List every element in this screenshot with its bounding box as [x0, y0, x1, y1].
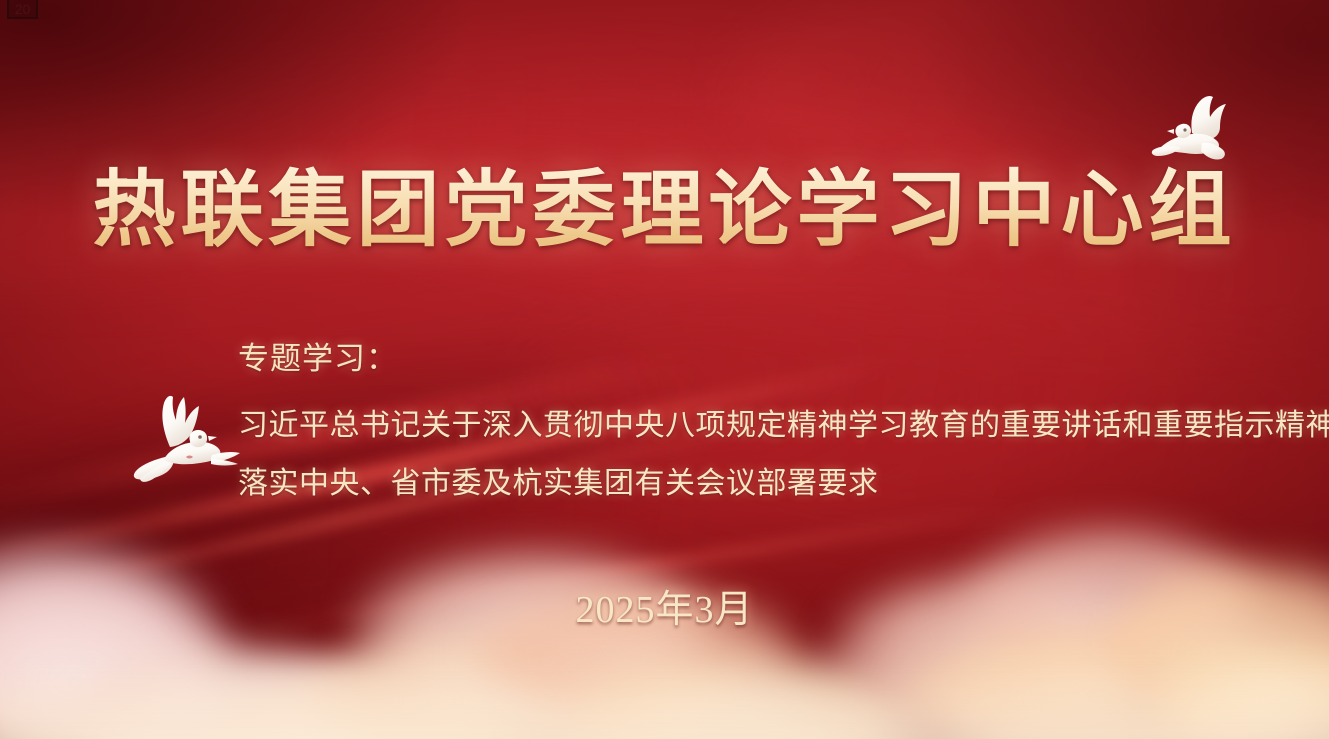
- dove-icon-top-right: [1130, 85, 1250, 175]
- cloud-decoration: [0, 529, 1329, 739]
- subtitle-label: 专题学习：: [238, 336, 1298, 383]
- subtitle-line-2: 落实中央、省市委及杭实集团有关会议部署要求: [238, 455, 1298, 514]
- page-number-badge: 20: [7, 0, 38, 19]
- presentation-slide: 热联集团党委理论学习中心组 专题学习： 习近平总书记关于深入贯彻中央八项规定精神…: [0, 0, 1329, 739]
- subtitle-line-1: 习近平总书记关于深入贯彻中央八项规定精神学习教育的重要讲话和重要指示精神: [238, 397, 1298, 456]
- dove-icon-left: [112, 385, 242, 500]
- page-title: 热联集团党委理论学习中心组: [0, 166, 1329, 256]
- slide-date: 2025年3月: [0, 578, 1329, 633]
- subtitle-block: 专题学习： 习近平总书记关于深入贯彻中央八项规定精神学习教育的重要讲话和重要指示…: [238, 336, 1298, 514]
